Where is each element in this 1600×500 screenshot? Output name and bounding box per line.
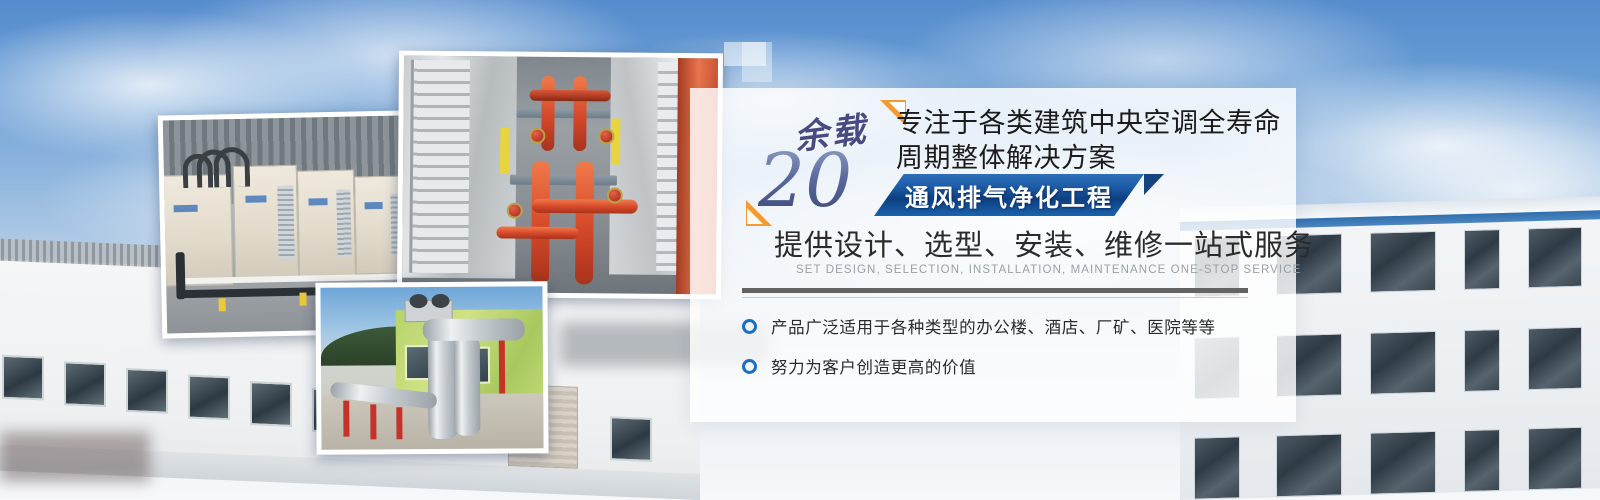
window (1464, 229, 1500, 290)
blur-patch (0, 432, 150, 482)
window (2, 355, 44, 401)
divider (742, 288, 1248, 298)
content-panel: 余载 20 专注于各类建筑中央空调全寿命周期整体解决方案 通风排气净化工程 提供… (690, 88, 1296, 422)
ribbon-tail (1144, 174, 1164, 216)
ribbon-shape: 通风排气净化工程 (874, 174, 1144, 216)
yellow-label (500, 127, 509, 173)
red-pipe-branch (531, 198, 638, 213)
valve-handwheel (607, 187, 623, 203)
insulated-duct-header (423, 319, 525, 342)
tagline-chinese: 提供设计、选型、安装、维修一站式服务 (774, 222, 1274, 264)
window (188, 375, 230, 421)
accent-block (742, 42, 772, 82)
red-pipe (529, 90, 611, 102)
valve-handwheel (506, 203, 522, 219)
pipe-tag (300, 292, 307, 305)
window (1528, 327, 1582, 391)
red-pipe (575, 161, 594, 284)
blue-ring-bullet-icon (742, 359, 757, 374)
red-pipe (531, 161, 550, 284)
list-item-label: 产品广泛适用于各种类型的办公楼、酒店、厂矿、医院等等 (771, 314, 1216, 338)
window (1194, 436, 1240, 499)
window (1464, 429, 1500, 492)
window (126, 368, 168, 414)
tagline-english: SET DESIGN, SELECTION, INSTALLATION, MAI… (796, 264, 1301, 276)
window (250, 381, 292, 427)
window (610, 416, 652, 462)
cable-tray (510, 175, 617, 186)
window (1464, 329, 1500, 392)
list-item: 努力为客户创造更高的价值 (742, 354, 1282, 378)
photo-red-chilled-water-piping (397, 51, 723, 300)
condenser-unit (163, 174, 234, 286)
insulated-duct-riser (454, 335, 481, 436)
blue-ring-bullet-icon (742, 319, 757, 334)
red-pipe (573, 76, 587, 152)
refrigerant-hose (213, 146, 250, 187)
orange-corner-arrow-icon (746, 200, 772, 226)
window (1528, 227, 1582, 289)
pipe-riser (175, 252, 185, 299)
duct-support-post (343, 401, 349, 437)
pipe-tag (219, 298, 226, 311)
window (1370, 431, 1436, 495)
window (1528, 427, 1582, 491)
cable-tray (517, 109, 611, 119)
red-pipe-branch (497, 226, 579, 239)
years-number: 20 (758, 144, 852, 218)
window (64, 361, 106, 407)
ribbon-label: 通风排气净化工程 (905, 178, 1113, 213)
window (1370, 331, 1436, 395)
list-item: 产品广泛适用于各种类型的办公楼、酒店、厂矿、医院等等 (742, 314, 1282, 338)
headline: 专注于各类建筑中央空调全寿命周期整体解决方案 (896, 106, 1288, 176)
bullet-list: 产品广泛适用于各种类型的办公楼、酒店、厂矿、医院等等 努力为客户创造更高的价值 (742, 314, 1282, 394)
ribbon-banner: 通风排气净化工程 (860, 174, 1160, 216)
duct-support-post (370, 404, 376, 440)
photo-rooftop-insulated-ductwork (315, 281, 548, 455)
list-item-label: 努力为客户创造更高的价值 (771, 354, 976, 378)
banner-stage: 余载 20 专注于各类建筑中央空调全寿命周期整体解决方案 通风排气净化工程 提供… (0, 0, 1600, 500)
valve-handwheel (529, 128, 545, 144)
valve-handwheel (598, 128, 614, 144)
window (1370, 231, 1436, 293)
condenser-unit (297, 170, 356, 278)
duct-support-post (397, 407, 403, 439)
window (1276, 433, 1342, 497)
